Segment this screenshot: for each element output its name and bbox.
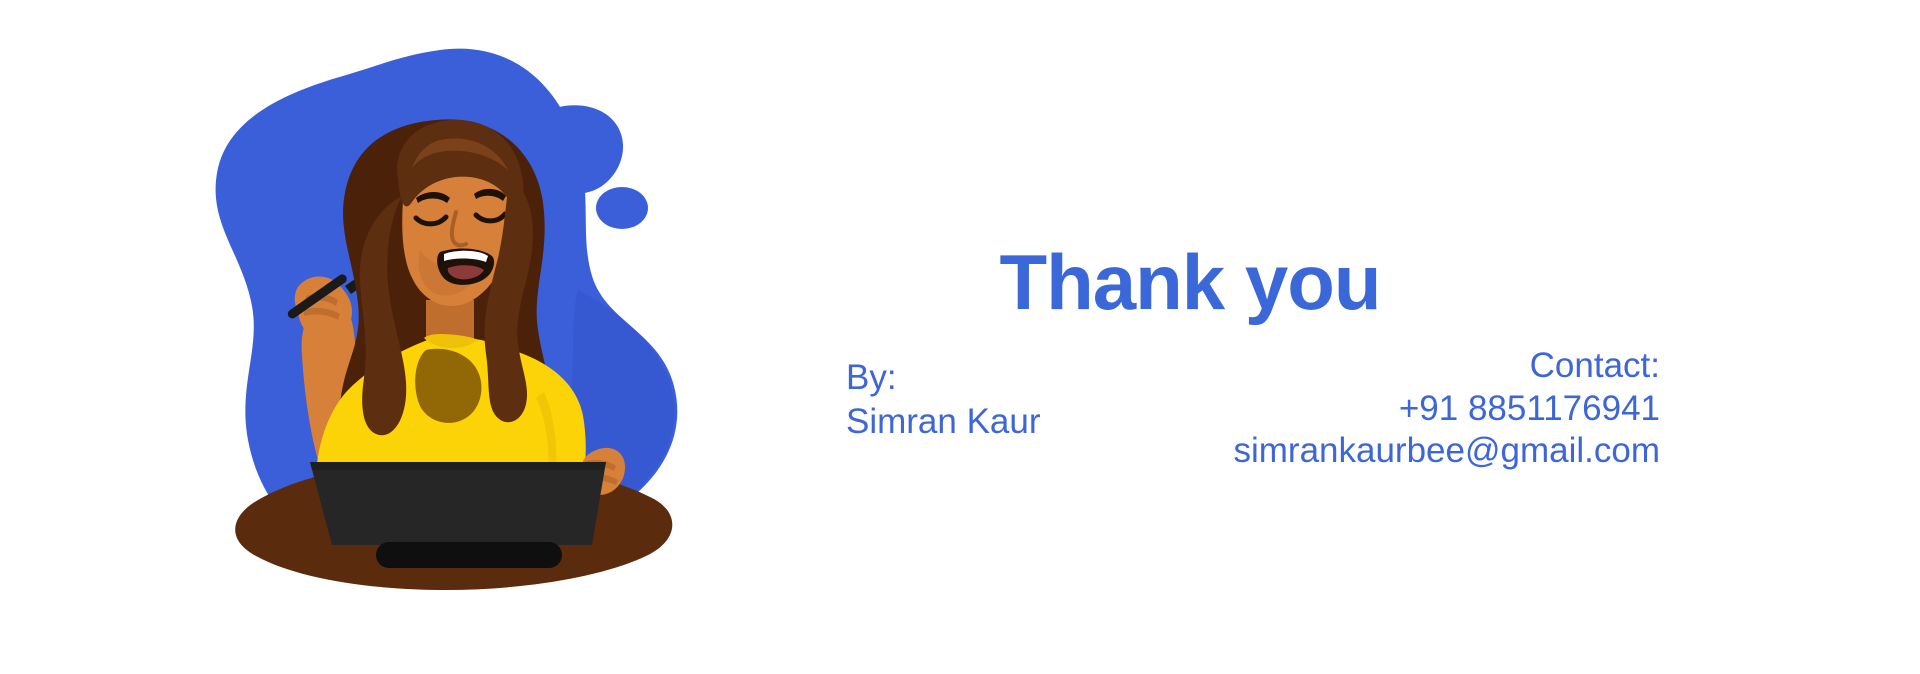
author-block: By: Simran Kaur	[846, 356, 1041, 444]
contact-phone[interactable]: +91 8851176941	[1233, 388, 1660, 431]
author-name: Simran Kaur	[846, 400, 1041, 444]
page-title: Thank you	[840, 243, 1540, 321]
author-label: By:	[846, 356, 1041, 400]
contact-block: Contact: +91 8851176941 simrankaurbee@gm…	[1233, 345, 1660, 473]
woman-working-on-laptop-illustration	[140, 0, 720, 674]
text-content-area: Thank you By: Simran Kaur Contact: +91 8…	[840, 0, 1680, 674]
contact-email[interactable]: simrankaurbee@gmail.com	[1233, 430, 1660, 473]
thank-you-slide: Thank you By: Simran Kaur Contact: +91 8…	[0, 0, 1920, 674]
contact-label: Contact:	[1233, 345, 1660, 388]
